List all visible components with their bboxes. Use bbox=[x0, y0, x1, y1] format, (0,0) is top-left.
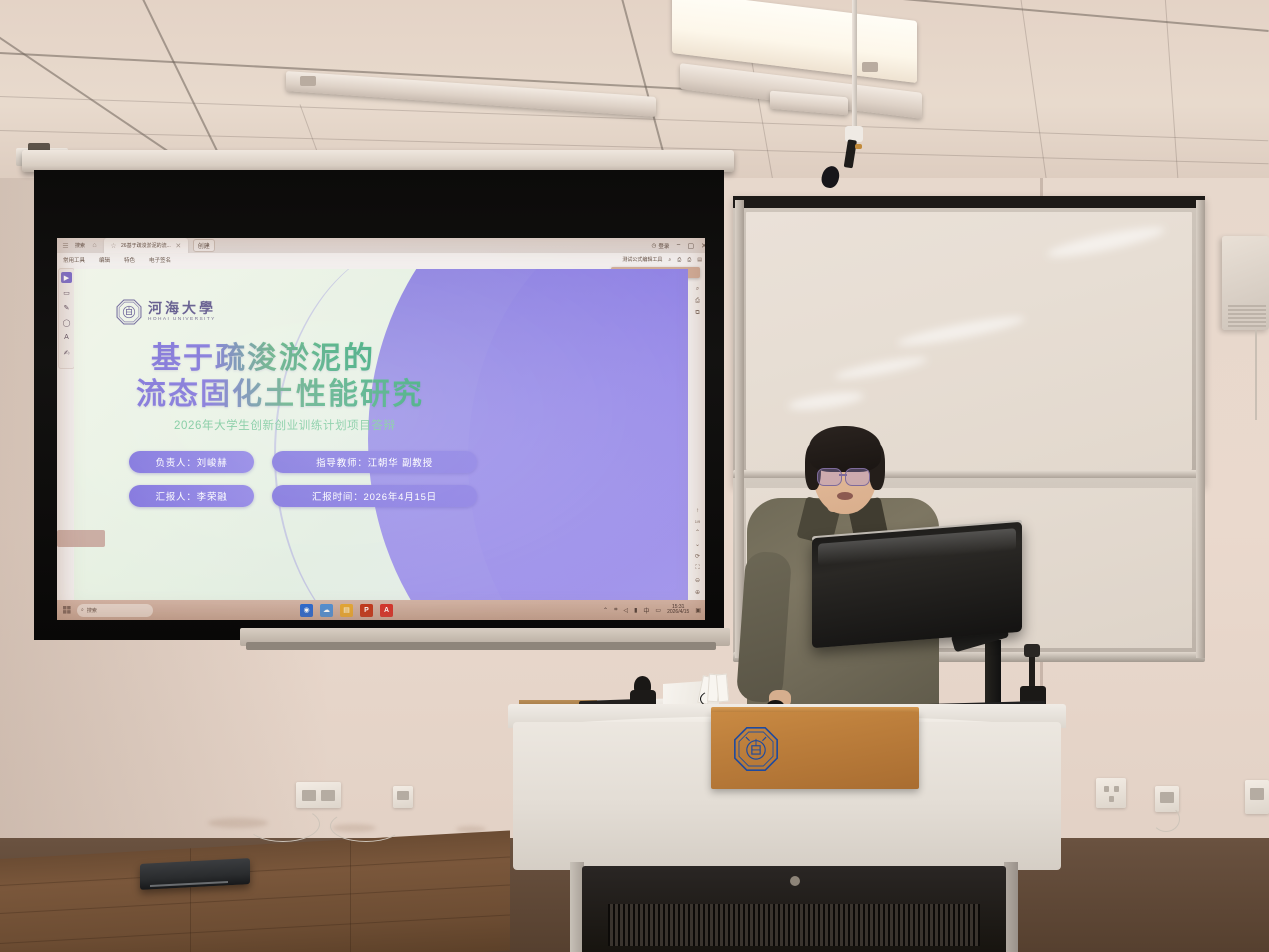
slide-title-line2: 流态固化土性能研究 bbox=[136, 369, 424, 413]
bookmark-icon[interactable]: ⎙ bbox=[695, 298, 700, 305]
document-tab[interactable]: ☆ 26基于疏浚淤泥的流... ✕ bbox=[104, 238, 188, 254]
home-icon[interactable]: ⌂ bbox=[90, 241, 99, 250]
logo-english-text: HOHAI UNIVERSITY bbox=[148, 318, 216, 323]
podium-plaque: 河海大學 HOHAI UNIVERSITY bbox=[711, 712, 919, 789]
clock-date: 2026/4/15 bbox=[667, 610, 689, 615]
power-outlet bbox=[1096, 778, 1126, 808]
browser-tab-bar: ☰ 搜索 ⌂ ☆ 26基于疏浚淤泥的流... ✕ 创建 ◷ 登录 bbox=[57, 238, 705, 253]
annotation-toolbar: ▶ ▭ ✎ ◯ A ✍ bbox=[58, 268, 75, 369]
power-cable bbox=[1152, 806, 1180, 832]
system-tray: ⌃ ⌗ ◁ ▮ 中 ▭ 15:31 2026/4/15 ▣ bbox=[603, 605, 701, 616]
network-icon[interactable]: ⌗ bbox=[614, 607, 617, 614]
menu-icon[interactable]: ☰ bbox=[61, 241, 70, 250]
file-explorer-icon[interactable]: ▤ bbox=[340, 604, 353, 617]
text-box-icon[interactable]: A bbox=[61, 332, 72, 343]
search-placeholder: 搜索 bbox=[87, 607, 97, 614]
share-icon[interactable]: ⎙ bbox=[677, 257, 681, 263]
login-label: 登录 bbox=[658, 242, 669, 250]
menu-label: 搜索 bbox=[75, 242, 85, 249]
badge-date: 汇报时间：2026年4月15日 bbox=[272, 485, 477, 507]
fixture-bracket bbox=[862, 62, 878, 72]
eyeglasses-bridge bbox=[839, 474, 847, 476]
maximize-button[interactable]: ▢ bbox=[688, 242, 695, 250]
search-icon[interactable]: ⌕ bbox=[696, 286, 699, 293]
taskbar-clock[interactable]: 15:31 2026/4/15 bbox=[667, 605, 689, 616]
close-icon[interactable]: ✕ bbox=[174, 241, 183, 250]
menu-esignature[interactable]: 电子签名 bbox=[149, 256, 171, 264]
menu-edit[interactable]: 编辑 bbox=[99, 256, 110, 264]
whiteboard-top-rail bbox=[733, 196, 1205, 208]
menu-bar: 常用工具 编辑 特色 电子签名 bbox=[57, 253, 705, 266]
desk-microphone-stem bbox=[1029, 652, 1035, 690]
pdf-reader-window: ☰ 搜索 ⌂ ☆ 26基于疏浚淤泥的流... ✕ 创建 ◷ 登录 bbox=[57, 238, 705, 600]
browser-app-icon[interactable]: ◉ bbox=[300, 604, 313, 617]
minimize-button[interactable]: − bbox=[676, 242, 680, 249]
signature-icon[interactable]: ✍ bbox=[61, 347, 72, 358]
logo-chinese-text: 河海大學 bbox=[148, 302, 216, 316]
badge-advisor: 指导教师：江朝华 副教授 bbox=[272, 451, 477, 473]
slide-logo: 河海大學 HOHAI UNIVERSITY bbox=[116, 299, 216, 325]
podium-cabinet-lock[interactable] bbox=[790, 876, 800, 886]
whiteboard-rail-right bbox=[1196, 200, 1205, 658]
star-icon[interactable]: ☆ bbox=[109, 241, 118, 250]
microphone-band bbox=[855, 144, 862, 149]
eyeglasses-left-lens bbox=[817, 468, 842, 486]
select-cursor-icon[interactable]: ▶ bbox=[61, 272, 72, 283]
badge-project-leader: 负责人：刘峻赫 bbox=[129, 451, 254, 473]
menu-common-tools[interactable]: 常用工具 bbox=[63, 256, 85, 264]
classroom-presentation-photo: ☰ 搜索 ⌂ ☆ 26基于疏浚淤泥的流... ✕ 创建 ◷ 登录 bbox=[0, 0, 1269, 952]
ime-icon[interactable]: 中 bbox=[643, 606, 649, 615]
new-tab-button[interactable]: 创建 bbox=[193, 239, 215, 252]
right-toolbar-bottom: ↑ 1/9 ⌃ ⌄ ⟳ ⛶ ⊖ ⊕ bbox=[691, 508, 704, 596]
university-seal-icon bbox=[733, 726, 779, 772]
page-number: 1/9 bbox=[695, 519, 701, 524]
zoom-in-icon[interactable]: ⊕ bbox=[695, 589, 700, 596]
projected-desktop: ☰ 搜索 ⌂ ☆ 26基于疏浚淤泥的流... ✕ 创建 ◷ 登录 bbox=[57, 238, 705, 620]
menu-features[interactable]: 特色 bbox=[124, 256, 135, 264]
power-outlet bbox=[296, 782, 341, 808]
notification-icon[interactable]: ▣ bbox=[695, 607, 701, 614]
clock-icon: ◷ bbox=[652, 243, 657, 249]
comment-icon[interactable]: ▭ bbox=[61, 287, 72, 298]
fit-page-icon[interactable]: ⛶ bbox=[695, 565, 699, 572]
desk-microphone-head bbox=[1024, 644, 1040, 657]
microphone-pole bbox=[852, 0, 857, 128]
chevron-up-icon[interactable]: ⌃ bbox=[603, 607, 608, 614]
monitor-post bbox=[985, 640, 1001, 710]
tab-title: 26基于疏浚淤泥的流... bbox=[121, 242, 171, 249]
podium-leg-right bbox=[1004, 862, 1018, 952]
close-button[interactable]: ✕ bbox=[701, 242, 705, 250]
chevron-up-icon[interactable]: ⌃ bbox=[695, 529, 700, 536]
pdf-reader-icon[interactable]: A bbox=[380, 604, 393, 617]
search-icon: ⌕ bbox=[81, 607, 84, 613]
fixture-bracket-2 bbox=[300, 76, 316, 86]
eyeglasses-right-lens bbox=[845, 468, 870, 486]
university-seal-icon bbox=[116, 299, 142, 325]
left-side-panel[interactable] bbox=[57, 530, 105, 547]
slide-subtitle: 2026年大学生创新创业训练计划项目答辩 bbox=[174, 417, 396, 433]
search-icon[interactable]: ⌕ bbox=[668, 257, 671, 263]
login-button[interactable]: ◷ 登录 bbox=[652, 242, 670, 250]
presenter-mouth bbox=[837, 492, 853, 500]
volume-icon[interactable]: ◁ bbox=[623, 607, 628, 614]
taskbar-apps: ◉ ☁ ▤ P A bbox=[300, 604, 393, 617]
pdf-page-slide: 河海大學 HOHAI UNIVERSITY 基于疏浚淤泥的 流态固化土性能研究 … bbox=[74, 269, 688, 600]
shape-ellipse-icon[interactable]: ◯ bbox=[61, 317, 72, 328]
screen-bottom-bar-shadow bbox=[246, 642, 716, 650]
powerpoint-app-icon[interactable]: P bbox=[360, 604, 373, 617]
chevron-down-icon[interactable]: ⌄ bbox=[695, 541, 700, 548]
window-controls: ◷ 登录 − ▢ ✕ bbox=[652, 238, 705, 253]
badge-presenter: 汇报人：李荣融 bbox=[129, 485, 254, 507]
power-cable bbox=[246, 806, 320, 842]
copy-icon[interactable]: ⧉ bbox=[695, 310, 699, 317]
speaker-cable bbox=[1255, 330, 1257, 420]
new-tab-label: 创建 bbox=[198, 244, 210, 250]
weather-app-icon[interactable]: ☁ bbox=[320, 604, 333, 617]
projector-screen-housing bbox=[22, 150, 734, 172]
podium-vent bbox=[608, 904, 980, 946]
right-toolbar-top: ⌕ ⎙ ⧉ bbox=[691, 286, 704, 317]
windows-taskbar: ⌕ 搜索 ◉ ☁ ▤ P A ⌃ ⌗ ◁ ▮ 中 ▭ bbox=[57, 600, 705, 620]
power-cable bbox=[330, 810, 402, 842]
print-icon[interactable]: ⎙ bbox=[687, 257, 691, 263]
refresh-icon[interactable]: ⟳ bbox=[695, 553, 700, 560]
speaker-grill bbox=[1228, 305, 1266, 327]
presenter-hair bbox=[809, 426, 881, 472]
taskbar-search-input[interactable]: ⌕ 搜索 bbox=[77, 604, 153, 617]
power-outlet-plugged bbox=[393, 786, 413, 808]
formula-tool-label[interactable]: 测试公式编辑工具 bbox=[622, 256, 662, 263]
highlight-pen-icon[interactable]: ✎ bbox=[61, 302, 72, 313]
menu-bar-right: 测试公式编辑工具 ⌕ ⎙ ⎙ ▤ bbox=[622, 253, 702, 266]
whiteboard bbox=[746, 212, 1192, 470]
keyboard-icon[interactable]: ▭ bbox=[655, 607, 661, 614]
power-outlet bbox=[1245, 780, 1269, 814]
windows-start-icon[interactable] bbox=[60, 603, 74, 617]
page-up-icon[interactable]: ↑ bbox=[696, 508, 699, 514]
battery-icon[interactable]: ▮ bbox=[634, 607, 637, 614]
save-icon[interactable]: ▤ bbox=[697, 257, 702, 263]
zoom-out-icon[interactable]: ⊖ bbox=[695, 577, 700, 584]
decorative-arc-outline bbox=[274, 269, 576, 600]
